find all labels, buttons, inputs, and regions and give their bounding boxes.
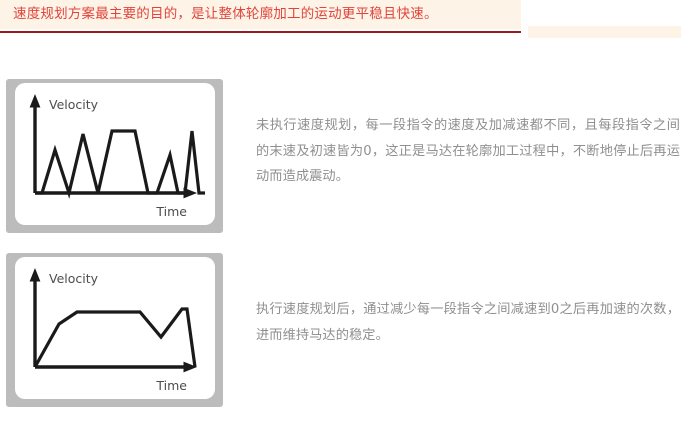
header-divider-rule [0,31,521,33]
description-no-planning: 未执行速度规划，每一段指令的速度及加减速都不同，且每段指令之间的末速及初速皆为0… [256,113,680,190]
chart-canvas-with-planning: Velocity Time [15,257,215,399]
velocity-time-chart-smooth: Velocity Time [15,257,215,399]
chart-card-no-planning: Velocity Time [6,79,223,233]
y-axis-label: Velocity [49,97,99,112]
velocity-trace [35,309,195,367]
page-title: 速度规划方案最主要的目的，是让整体轮廓加工的运动更平稳且快速。 [13,5,513,24]
y-axis [30,268,41,367]
x-axis [35,362,197,373]
header-accent-strip [528,26,681,38]
velocity-trace [35,131,205,193]
y-axis [30,94,41,193]
chart-canvas-no-planning: Velocity Time [15,83,215,225]
chart-card-with-planning: Velocity Time [6,253,223,407]
description-with-planning: 执行速度规划后，通过减少每一段指令之间减速到0之后再加速的次数，进而维持马达的稳… [256,297,680,348]
x-axis-label: Time [155,378,187,393]
x-axis-label: Time [155,204,187,219]
velocity-time-chart-sawtooth: Velocity Time [15,83,215,225]
x-axis [35,188,197,199]
y-axis-label: Velocity [49,271,99,286]
